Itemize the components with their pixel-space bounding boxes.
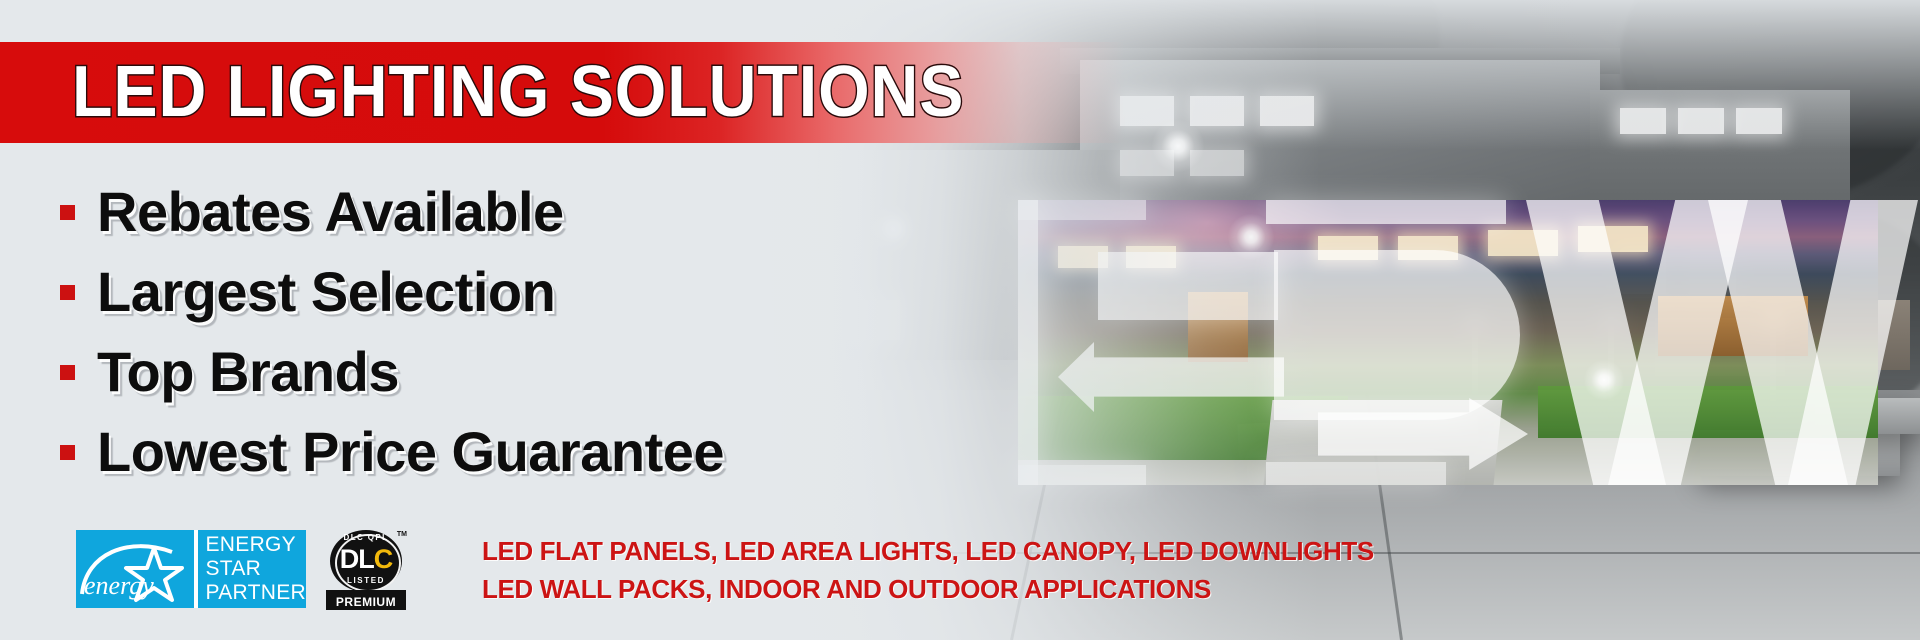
dlc-premium-banner: PREMIUM [326, 590, 406, 610]
list-item-label: Top Brands [97, 341, 399, 403]
bullet-square-icon [60, 445, 75, 460]
led-lighting-banner: LED LIGHTING SOLUTIONS Rebates Available… [0, 0, 1920, 640]
page-title: LED LIGHTING SOLUTIONS [72, 46, 964, 138]
list-item: Largest Selection [60, 252, 880, 332]
dlc-qpl-premium-logo: DLC QPL DLC LISTED PREMIUM TM [326, 530, 406, 612]
bullet-square-icon [60, 285, 75, 300]
bullet-square-icon [60, 365, 75, 380]
dlc-letter-d: D [340, 544, 359, 574]
energy-star-divider [194, 530, 198, 608]
list-item-label: Largest Selection [97, 261, 555, 323]
list-item: Lowest Price Guarantee [60, 412, 880, 492]
dlc-arc-bottom-label: LISTED [326, 576, 406, 585]
energy-star-line-2: STAR [205, 557, 306, 581]
list-item-label: Rebates Available [97, 181, 564, 243]
svg-text:energy: energy [84, 571, 154, 600]
energy-star-icon: energy [76, 530, 191, 608]
bullet-square-icon [60, 205, 75, 220]
dlc-arc-top-label: DLC QPL [326, 533, 406, 542]
energy-star-mark: energy [76, 530, 191, 608]
dlc-trademark-icon: TM [397, 531, 407, 538]
product-line-1: LED FLAT PANELS, LED AREA LIGHTS, LED CA… [482, 532, 1374, 570]
list-item: Rebates Available [60, 172, 880, 252]
energy-star-wordmark: ENERGY STAR PARTNER [191, 530, 306, 608]
list-item: Top Brands [60, 332, 880, 412]
dlc-letter-l: L [358, 544, 374, 574]
dlc-letter-c: C [374, 544, 393, 574]
energy-star-partner-logo: energy ENERGY STAR PARTNER [76, 530, 306, 608]
dlc-wordmark: DLC [326, 546, 406, 573]
product-categories: LED FLAT PANELS, LED AREA LIGHTS, LED CA… [482, 532, 1374, 608]
product-line-2: LED WALL PACKS, INDOOR AND OUTDOOR APPLI… [482, 570, 1374, 608]
certification-badges: energy ENERGY STAR PARTNER DLC QPL DLC L… [76, 530, 406, 612]
energy-star-line-3: PARTNER [205, 581, 306, 605]
feature-list: Rebates Available Largest Selection Top … [60, 172, 880, 492]
energy-star-line-1: ENERGY [205, 533, 306, 557]
list-item-label: Lowest Price Guarantee [97, 421, 724, 483]
